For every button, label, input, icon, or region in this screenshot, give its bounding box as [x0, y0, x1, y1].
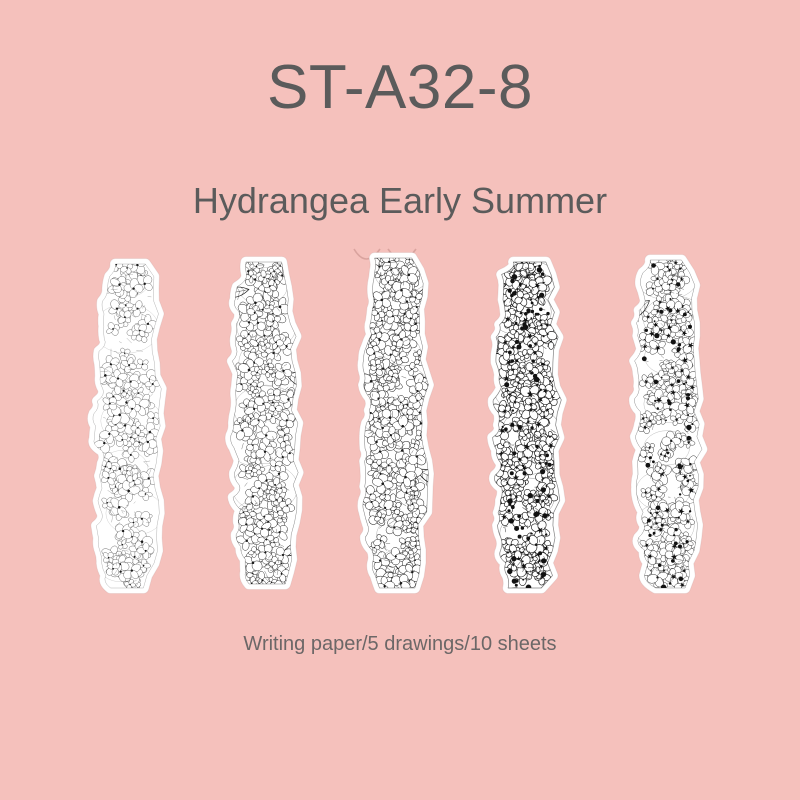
hydrangea-strip-high-contrast[interactable]	[468, 248, 586, 598]
product-specs: Writing paper/5 drawings/10 sheets	[0, 632, 800, 656]
sticker-gallery	[0, 248, 800, 598]
product-subtitle: Hydrangea Early Summer	[0, 181, 800, 221]
product-card: ST-A32-8 Hydrangea Early Summer Writing …	[0, 0, 800, 800]
page-title: ST-A32-8	[0, 55, 800, 120]
hydrangea-strip-light-outline[interactable]	[69, 248, 187, 598]
hydrangea-strip-bold-cluster[interactable]	[206, 248, 324, 598]
hydrangea-strip-dense-blooms[interactable]	[336, 248, 454, 598]
hydrangea-strip-leafy[interactable]	[609, 248, 727, 598]
